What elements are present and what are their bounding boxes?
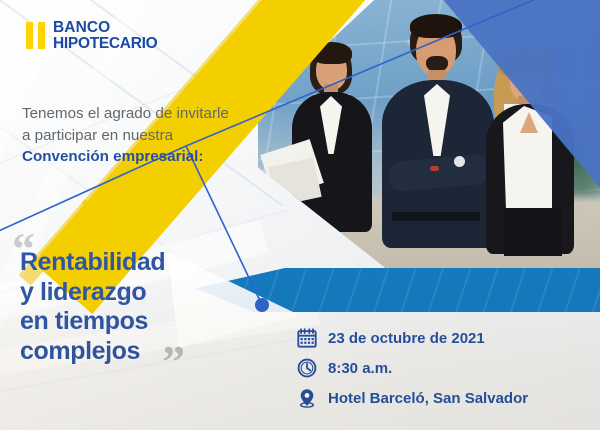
event-time-row: 8:30 a.m. <box>296 356 528 380</box>
logo-line-hipotecario: HIPOTECARIO <box>53 36 157 52</box>
double-chevron-down-icon <box>80 199 116 245</box>
location-pin-icon <box>296 387 318 409</box>
event-headline: Rentabilidad y liderazgo en tiempos comp… <box>20 248 220 366</box>
headline-line-1: Rentabilidad <box>20 248 220 278</box>
calendar-icon <box>296 327 318 349</box>
event-details: 23 de octubre de 2021 8:30 a.m. Hotel Ba… <box>296 326 528 416</box>
event-date-row: 23 de octubre de 2021 <box>296 326 528 350</box>
logo-wordmark: BANCO HIPOTECARIO <box>53 20 157 51</box>
bank-logo: BANCO HIPOTECARIO <box>26 20 157 51</box>
clock-icon <box>296 357 318 379</box>
event-invitation-poster: BANCO HIPOTECARIO Tenemos el agrado de i… <box>0 0 600 430</box>
headline-line-2: y liderazgo <box>20 278 220 308</box>
headline-line-3: en tiempos <box>20 307 220 337</box>
logo-bars-icon <box>26 22 45 49</box>
headline-line-4: complejos <box>20 337 220 367</box>
event-time-value: 8:30 a.m. <box>328 360 392 377</box>
logo-line-banco: BANCO <box>53 20 157 36</box>
invitation-paragraph: Tenemos el agrado de invitarle a partici… <box>22 103 232 168</box>
invitation-lead-text: Tenemos el agrado de invitarle a partici… <box>22 105 229 144</box>
event-location-row: Hotel Barceló, San Salvador <box>296 386 528 410</box>
event-location-value: Hotel Barceló, San Salvador <box>328 390 528 407</box>
event-date-value: 23 de octubre de 2021 <box>328 330 485 347</box>
invitation-emphasis-text: Convención empresarial: <box>22 148 203 165</box>
